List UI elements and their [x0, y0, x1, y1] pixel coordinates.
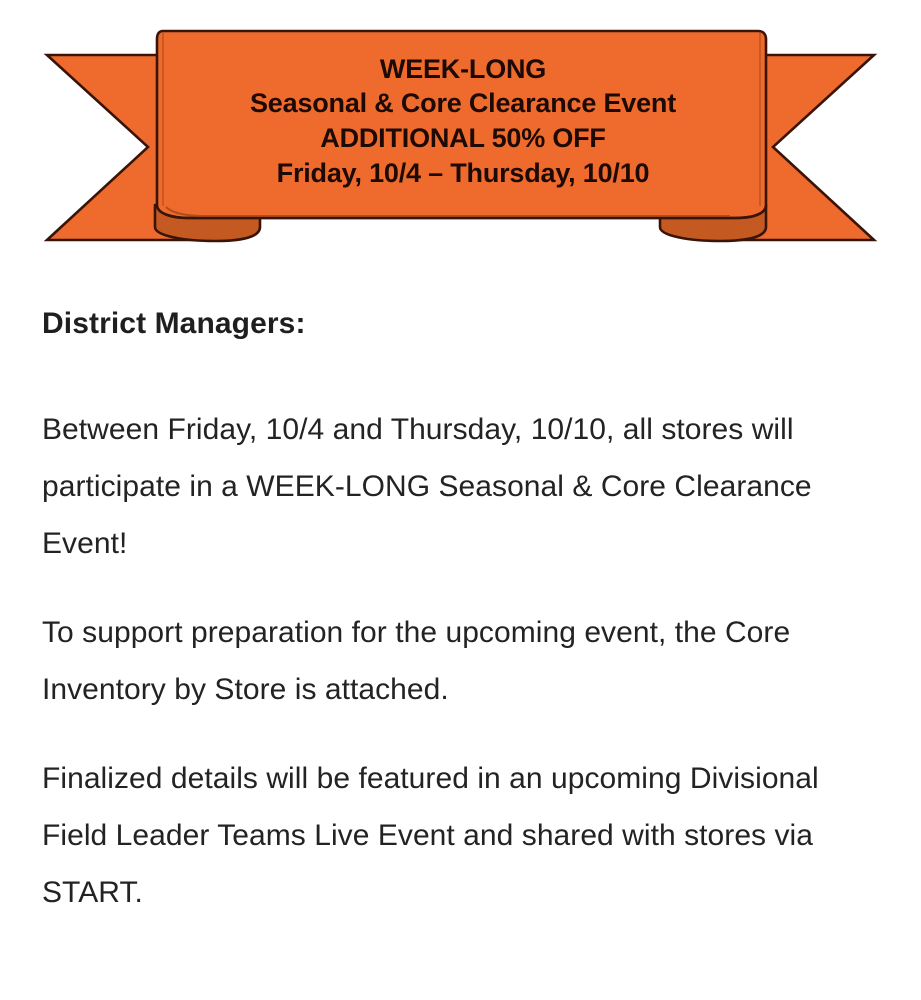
spacer	[42, 572, 890, 604]
clearance-event-banner: WEEK-LONG Seasonal & Core Clearance Even…	[0, 0, 921, 258]
spacer	[42, 342, 890, 401]
memo-paragraph-1: Between Friday, 10/4 and Thursday, 10/10…	[42, 401, 890, 572]
ribbon-graphic	[0, 0, 921, 258]
memo-paragraph-3: Finalized details will be featured in an…	[42, 750, 890, 921]
memo-salutation: District Managers:	[42, 306, 890, 342]
ribbon-center-panel	[157, 31, 766, 218]
memo-body: District Managers: Between Friday, 10/4 …	[42, 306, 890, 921]
memo-page: WEEK-LONG Seasonal & Core Clearance Even…	[0, 0, 921, 1000]
memo-paragraph-2: To support preparation for the upcoming …	[42, 604, 890, 718]
spacer	[42, 718, 890, 750]
